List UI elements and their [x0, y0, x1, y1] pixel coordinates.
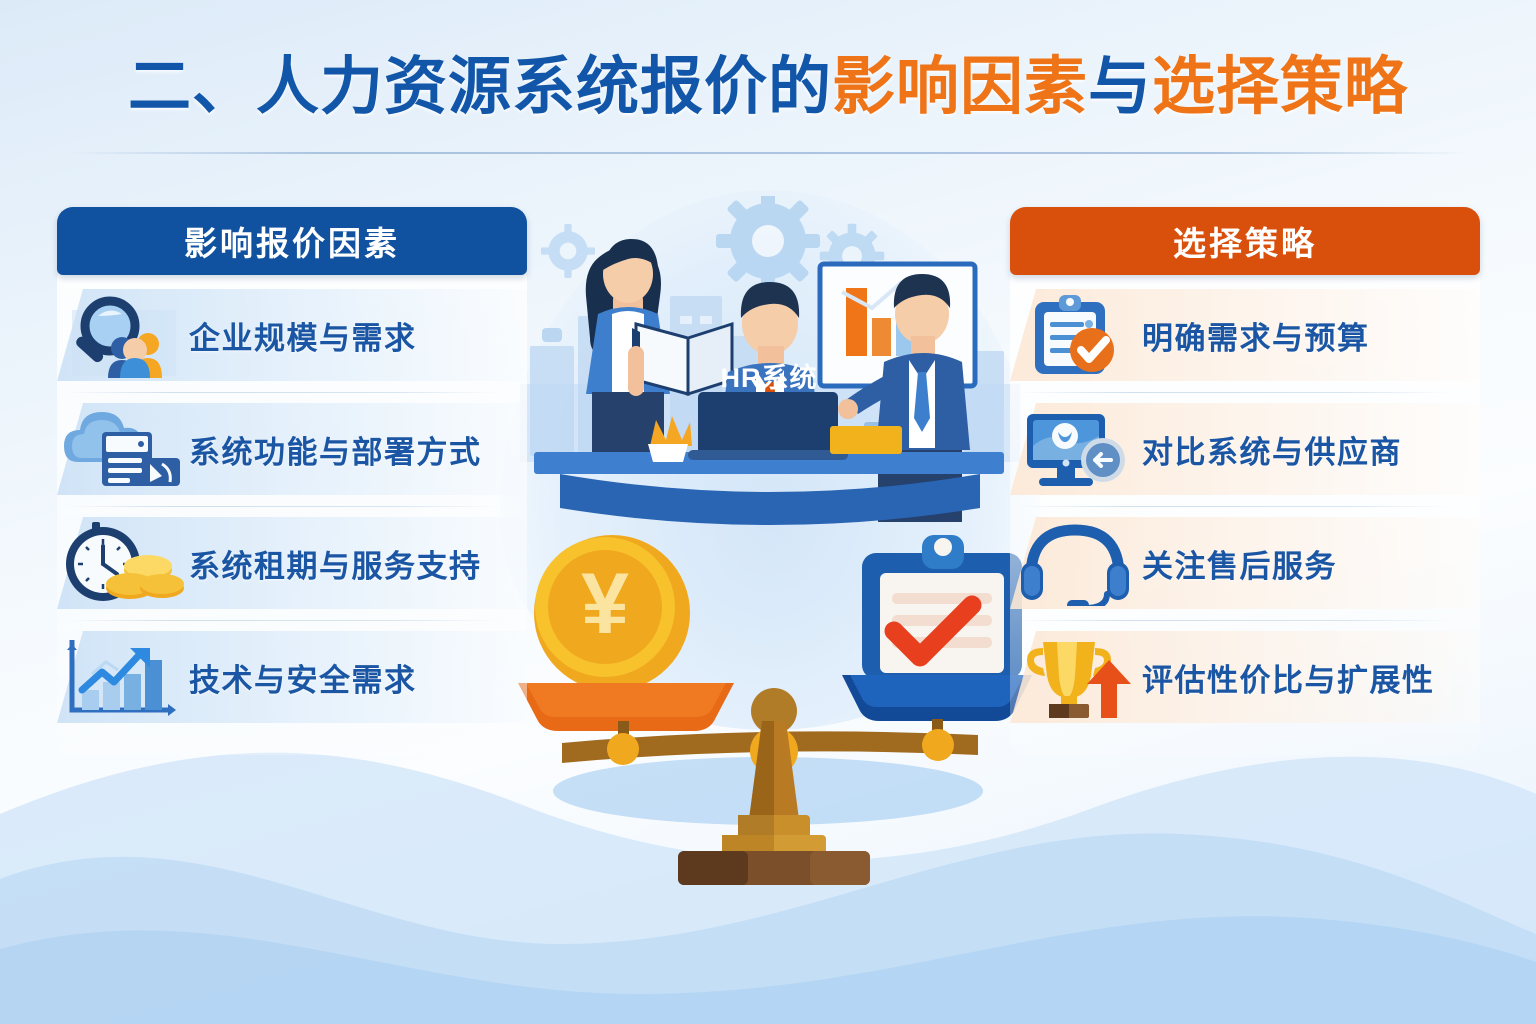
list-item[interactable]: 对比系统与供应商	[1010, 403, 1480, 495]
list-item[interactable]: 关注售后服务	[1010, 517, 1480, 609]
list-item-label: 技术与安全需求	[189, 655, 417, 700]
left-panel-header-label: 影响报价因素	[184, 217, 400, 265]
right-panel-header: 选择策略	[1010, 207, 1480, 275]
list-item-label: 关注售后服务	[1142, 541, 1337, 586]
magnifier-people-icon	[57, 289, 189, 381]
list-item-label: 评估性价比与扩展性	[1142, 655, 1435, 700]
list-item-label: 系统功能与部署方式	[189, 427, 482, 472]
title-divider	[68, 152, 1468, 154]
monitor-compare-icon	[1010, 403, 1142, 495]
left-panel-body: 企业规模与需求 系统功	[57, 265, 527, 755]
growth-chart-icon	[57, 631, 189, 723]
balance-scale: ¥	[490, 515, 1050, 885]
list-item-label: 企业规模与需求	[189, 313, 417, 358]
hr-team-illustration: HR系统	[520, 196, 1020, 526]
trophy-arrow-icon	[1010, 631, 1142, 723]
list-item-label: 明确需求与预算	[1142, 313, 1370, 358]
page-title-segment-3: 与	[1088, 52, 1152, 122]
list-item[interactable]: 评估性价比与扩展性	[1010, 631, 1480, 723]
row-separator	[1018, 620, 1452, 621]
right-panel-body: 明确需求与预算 对比系	[1010, 265, 1480, 755]
list-item[interactable]: 明确需求与预算	[1010, 289, 1480, 381]
clipboard-check-icon	[1010, 289, 1142, 381]
page-title-segment-1: 二、人力资源系统报价的	[128, 52, 832, 122]
row-separator	[65, 620, 499, 621]
yellow-box	[830, 426, 902, 454]
row-separator	[1018, 392, 1452, 393]
list-item[interactable]: 系统功能与部署方式	[57, 403, 527, 495]
page-title-segment-2: 影响因素	[832, 52, 1088, 122]
left-panel-header: 影响报价因素	[57, 207, 527, 275]
clock-coins-icon	[57, 517, 189, 609]
cloud-server-icon	[57, 403, 189, 495]
list-item[interactable]: 企业规模与需求	[57, 289, 527, 381]
list-item[interactable]: 系统租期与服务支持	[57, 517, 527, 609]
page-title-segment-4: 选择策略	[1152, 52, 1408, 122]
row-separator	[65, 506, 499, 507]
laptop	[688, 392, 848, 460]
list-item-label: 系统租期与服务支持	[189, 541, 482, 586]
page-title: 二、人力资源系统报价的影响因素与选择策略	[0, 52, 1536, 123]
clipboard-checkmark-icon	[862, 535, 1022, 679]
yuan-symbol: ¥	[581, 556, 629, 652]
right-panel-header-label: 选择策略	[1173, 217, 1317, 265]
list-item[interactable]: 技术与安全需求	[57, 631, 527, 723]
row-separator	[65, 392, 499, 393]
row-separator	[1018, 506, 1452, 507]
list-item-label: 对比系统与供应商	[1142, 427, 1402, 472]
headset-support-icon	[1010, 517, 1142, 609]
right-panel: 选择策略 明确需求与预算	[1010, 207, 1480, 755]
left-panel: 影响报价因素 企业规模与需求	[57, 207, 527, 755]
yuan-coin-icon: ¥	[534, 535, 690, 691]
